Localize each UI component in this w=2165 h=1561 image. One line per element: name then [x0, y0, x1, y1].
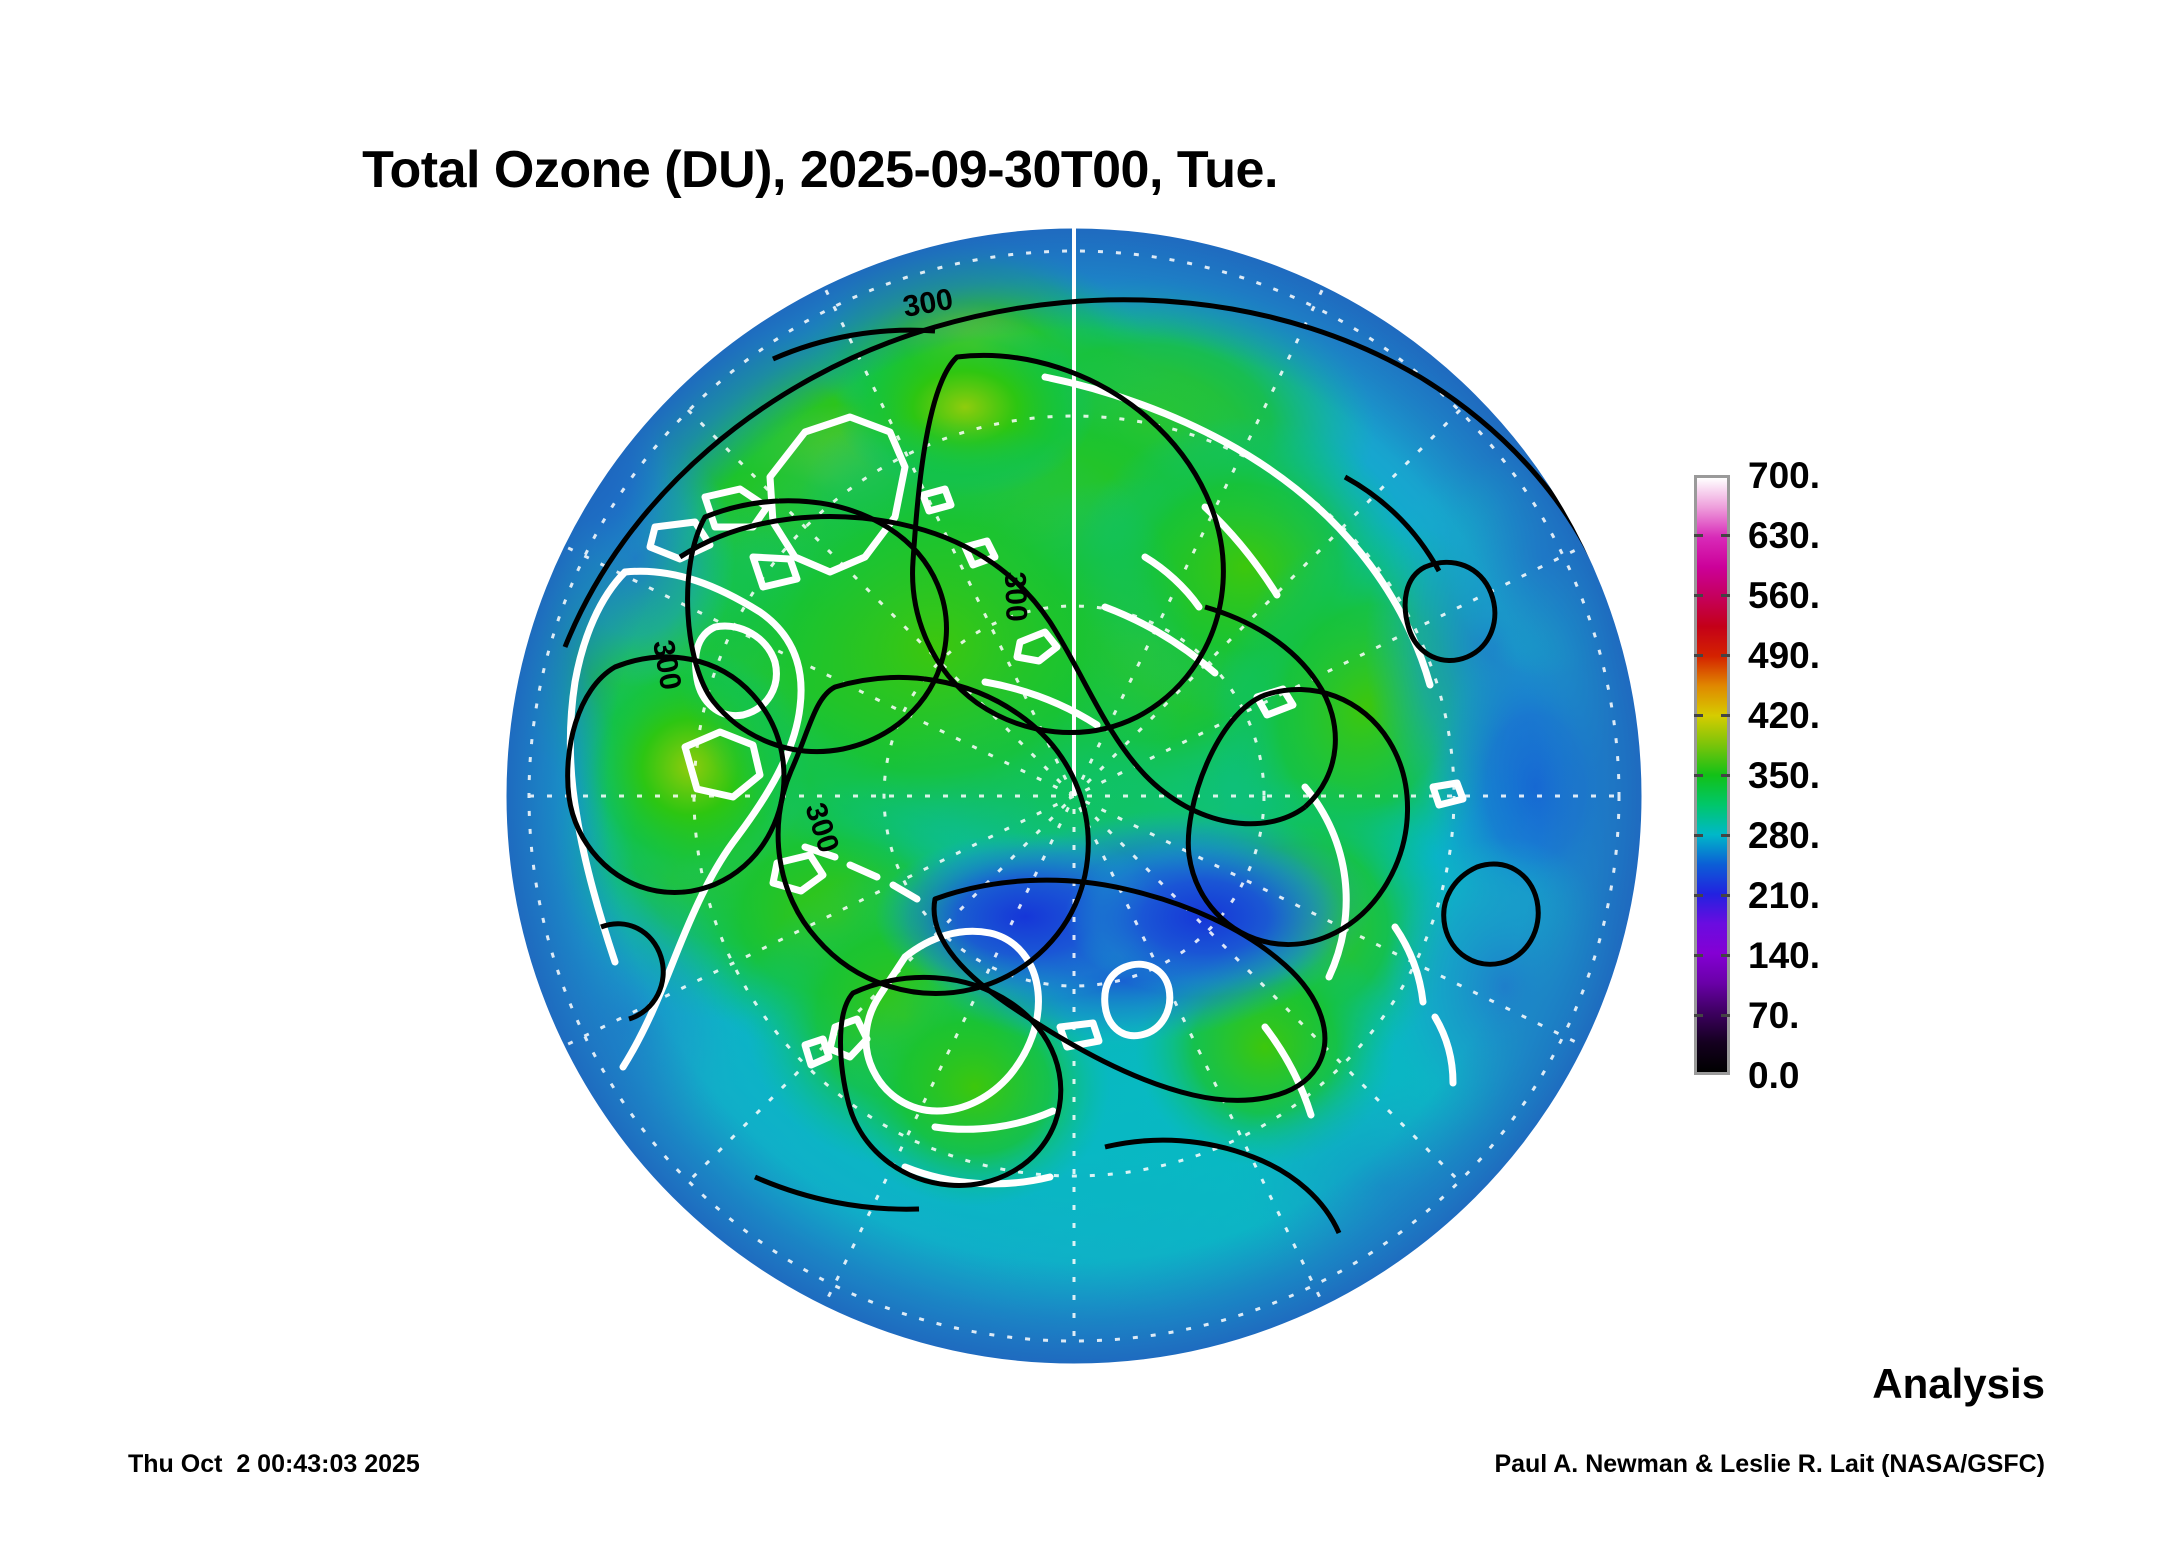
colorbar-tick — [1721, 654, 1730, 657]
colorbar-tick — [1694, 834, 1703, 837]
colorbar-tick — [1721, 1014, 1730, 1017]
map-canvas: 300 300 300 300 300 — [505, 227, 1643, 1365]
author-credit: Paul A. Newman & Leslie R. Lait (NASA/GS… — [1494, 1450, 2045, 1479]
colorbar-tick-label: 560. — [1748, 577, 1820, 614]
colorbar-tick — [1721, 534, 1730, 537]
colorbar-tick-label: 280. — [1748, 817, 1820, 854]
analysis-label: Analysis — [1872, 1360, 2045, 1408]
colorbar-tick — [1721, 834, 1730, 837]
colorbar-tick — [1694, 894, 1703, 897]
ozone-map: 300 300 300 300 300 — [505, 227, 1643, 1365]
generation-timestamp: Thu Oct 2 00:43:03 2025 — [128, 1450, 420, 1479]
colorbar-tick — [1694, 1014, 1703, 1017]
ozone-figure: Total Ozone (DU), 2025-09-30T00, Tue. — [0, 0, 2165, 1561]
ozone-field: 300 300 300 300 300 — [505, 227, 1643, 1365]
colorbar-tick — [1721, 954, 1730, 957]
colorbar-tick-label: 140. — [1748, 937, 1820, 974]
colorbar-tick — [1694, 774, 1703, 777]
colorbar: 700.630.560.490.420.350.280.210.140.70.0… — [1694, 475, 2114, 1080]
colorbar-tick-label: 490. — [1748, 637, 1820, 674]
colorbar-tick-label: 350. — [1748, 757, 1820, 794]
colorbar-tick — [1694, 654, 1703, 657]
colorbar-tick — [1721, 714, 1730, 717]
colorbar-labels: 700.630.560.490.420.350.280.210.140.70.0… — [1748, 475, 2048, 1075]
colorbar-tick-label: 630. — [1748, 517, 1820, 554]
contour-label-300: 300 — [660, 309, 719, 358]
colorbar-tick — [1694, 594, 1703, 597]
colorbar-tick-label: 700. — [1748, 457, 1820, 494]
page-title: Total Ozone (DU), 2025-09-30T00, Tue. — [0, 140, 1640, 200]
colorbar-tick — [1694, 714, 1703, 717]
colorbar-tick — [1721, 594, 1730, 597]
colorbar-tick — [1694, 954, 1703, 957]
colorbar-ticks — [1694, 475, 1730, 1075]
colorbar-tick-label: 210. — [1748, 877, 1820, 914]
colorbar-tick-label: 70. — [1748, 997, 1799, 1034]
colorbar-tick-label: 420. — [1748, 697, 1820, 734]
colorbar-tick — [1721, 774, 1730, 777]
colorbar-tick — [1721, 894, 1730, 897]
colorbar-tick-label: 0.0 — [1748, 1057, 1799, 1094]
contour-label-300: 300 — [998, 571, 1033, 622]
colorbar-tick — [1694, 534, 1703, 537]
